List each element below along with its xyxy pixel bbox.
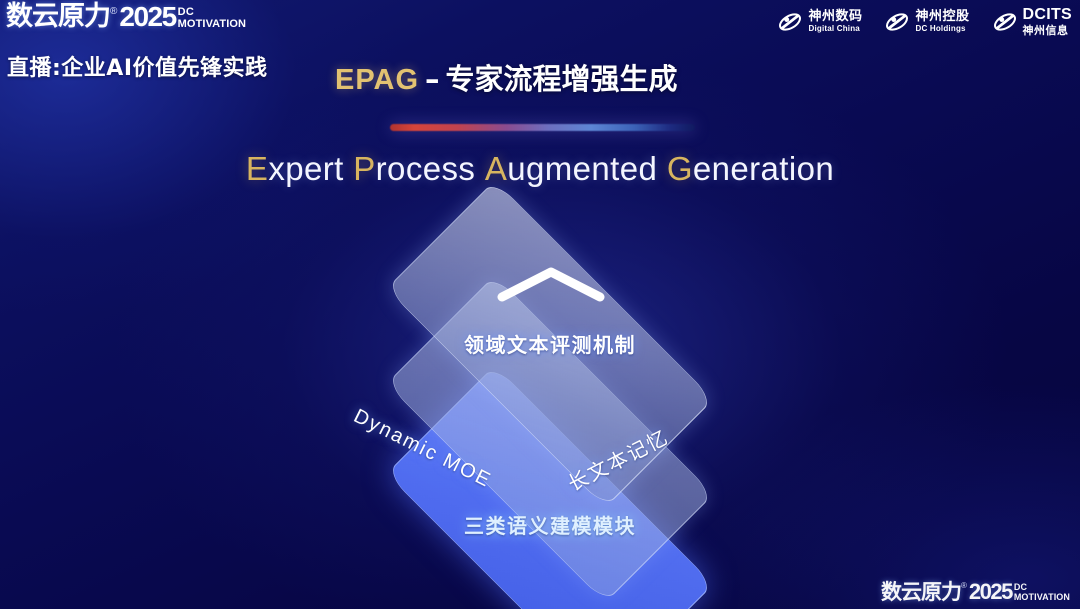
partner-cn-dc-holdings: 神州控股	[915, 10, 969, 23]
swoosh-icon	[777, 9, 803, 35]
partner-logo-group: 神州数码 Digital China 神州控股 DC Holdings	[777, 7, 1072, 36]
subtitle-word-body: ugmented	[507, 150, 667, 187]
watermark-registered-icon: ®	[961, 579, 967, 593]
top-bar: 数云原力 ® 2025 DC MOTIVATION 直播:企业AI价值先锋实践 …	[0, 0, 1080, 96]
subtitle-word-body: rocess	[376, 150, 485, 187]
partner-logo-dc-holdings: 神州控股 DC Holdings	[884, 9, 969, 35]
partner-logo-dcits: DCITS 神州信息	[992, 7, 1073, 36]
partner-cn-digital-china: 神州数码	[808, 10, 862, 23]
partner-logo-digital-china: 神州数码 Digital China	[777, 9, 862, 35]
brand-logo-cn: 数云原力	[6, 3, 110, 31]
partner-en-dcits: DCITS	[1023, 7, 1073, 23]
subtitle-word-body: xpert	[268, 150, 353, 187]
slide-canvas: 数云原力 ® 2025 DC MOTIVATION 直播:企业AI价值先锋实践 …	[0, 0, 1080, 609]
brand-logo-dc-line2: MOTIVATION	[178, 18, 246, 30]
subtitle-word-initial: E	[246, 150, 268, 187]
watermark-dc-line1: DC	[1014, 583, 1070, 592]
swoosh-icon	[992, 9, 1018, 35]
partner-label-dcits: DCITS 神州信息	[1023, 7, 1073, 36]
page-subtitle: Expert Process Augmented Generation	[0, 150, 1080, 188]
partner-label-dc-holdings: 神州控股 DC Holdings	[915, 10, 969, 33]
watermark-cn: 数云原力	[881, 581, 961, 603]
chevron-up-icon	[496, 266, 606, 302]
subtitle-word-body: eneration	[693, 150, 834, 187]
watermark-dc: DC MOTIVATION	[1014, 583, 1070, 602]
layered-architecture-diagram: 领域文本评测机制 Dynamic MOE 长文本记忆 三类语义建模模块	[300, 222, 800, 592]
partner-label-digital-china: 神州数码 Digital China	[808, 10, 862, 33]
partner-en-digital-china: Digital China	[808, 25, 862, 33]
brand-logo: 数云原力 ® 2025 DC MOTIVATION	[6, 3, 246, 31]
subtitle-word-initial: G	[667, 150, 693, 187]
brand-logo-dc: DC MOTIVATION	[178, 7, 246, 30]
brand-watermark: 数云原力 ® 2025 DC MOTIVATION	[881, 579, 1070, 603]
subtitle-word-initial: P	[353, 150, 375, 187]
gradient-divider	[390, 124, 695, 131]
swoosh-icon	[884, 9, 910, 35]
brand-logo-dc-line1: DC	[178, 7, 246, 18]
subtitle-word-initial: A	[485, 150, 507, 187]
watermark-year: 2025	[969, 581, 1012, 603]
diagram-label-bottom: 三类语义建模模块	[300, 510, 800, 539]
partner-cn-dcits: 神州信息	[1023, 25, 1073, 36]
registered-mark-icon: ®	[110, 5, 117, 19]
brand-logo-year: 2025	[119, 3, 175, 31]
partner-en-dc-holdings: DC Holdings	[915, 25, 969, 33]
live-stream-title: 直播:企业AI价值先锋实践	[7, 50, 268, 82]
diagram-label-top: 领域文本评测机制	[300, 329, 800, 358]
watermark-dc-line2: MOTIVATION	[1014, 592, 1070, 602]
